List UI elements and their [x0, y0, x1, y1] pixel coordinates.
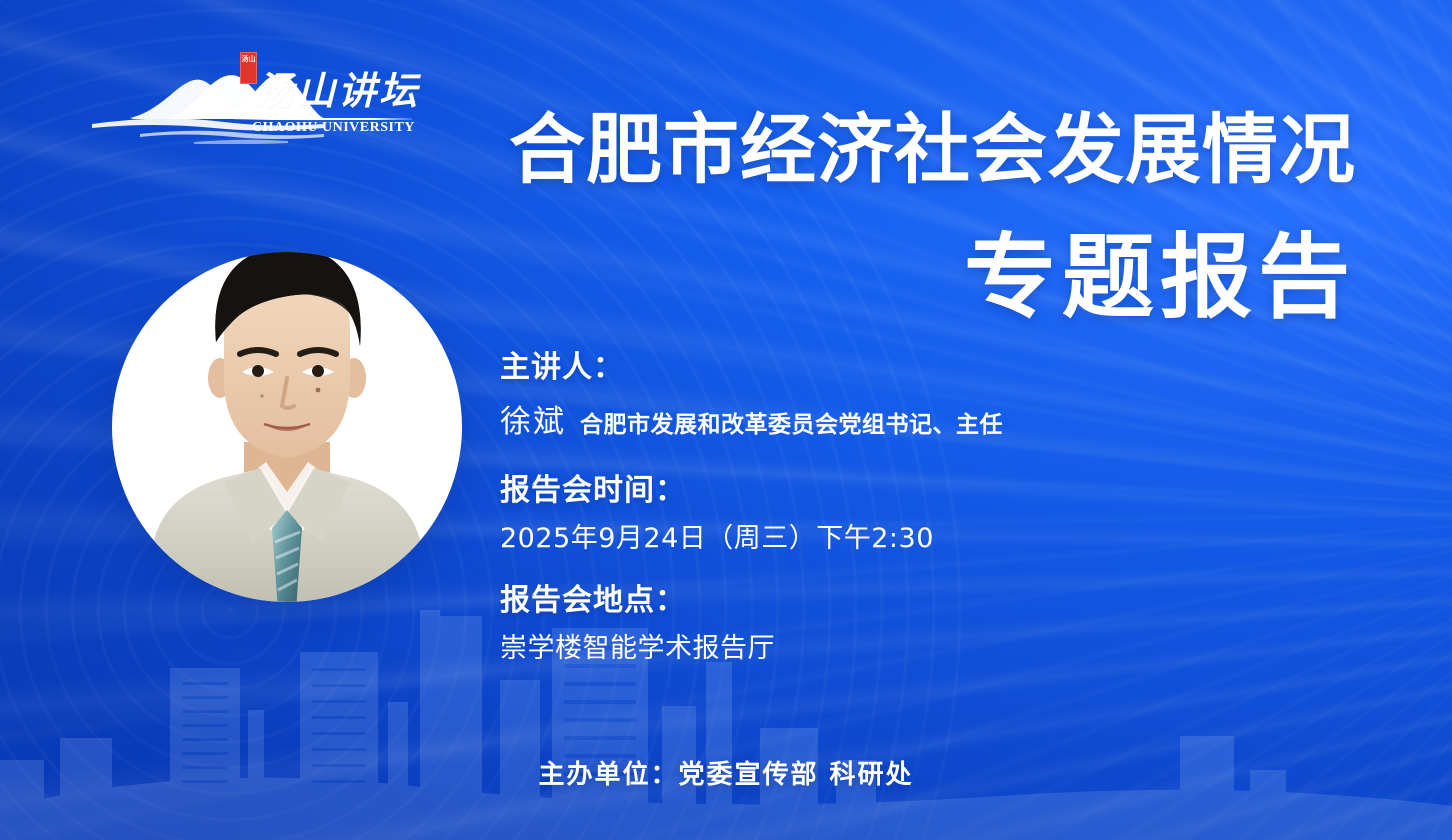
- poster-title: 合肥市经济社会发展情况 专题报告: [509, 106, 1356, 332]
- person-photo-icon: [112, 252, 462, 602]
- portrait-disc: [112, 252, 462, 602]
- place-label: 报告会地点：: [500, 581, 1260, 621]
- speaker-title: 合肥市发展和改革委员会党组书记、主任: [580, 405, 1003, 445]
- title-line-2: 专题报告: [509, 224, 1356, 332]
- red-seal-icon: 汤山: [240, 52, 257, 84]
- poster-root: 汤山 汤山讲坛 CHAOHU UNIVERSITY 合肥市经济社会发展情况 专题…: [0, 0, 1452, 840]
- organizer-text: 主办单位：党委宣传部 科研处: [538, 754, 913, 791]
- poster-footer: 主办单位：党委宣传部 科研处: [0, 754, 1452, 791]
- logo-english-name: CHAOHU UNIVERSITY: [252, 120, 415, 136]
- time-value: 2025年9月24日（周三）下午2:30: [500, 519, 1260, 559]
- speaker-name: 徐斌: [500, 402, 566, 442]
- speaker-row: 徐斌 合肥市发展和改革委员会党组书记、主任: [500, 402, 1260, 445]
- title-line-1: 合肥市经济社会发展情况: [509, 106, 1356, 194]
- speaker-portrait: [112, 252, 462, 602]
- place-value: 崇学楼智能学术报告厅: [500, 629, 1260, 669]
- event-info: 主讲人： 徐斌 合肥市发展和改革委员会党组书记、主任 报告会时间： 2025年9…: [500, 348, 1260, 669]
- seal-text: 汤山: [240, 52, 257, 63]
- time-label: 报告会时间：: [500, 471, 1260, 511]
- logo-chinese-name: 汤山讲坛: [256, 70, 420, 112]
- brand-logo: 汤山 汤山讲坛 CHAOHU UNIVERSITY: [74, 52, 414, 147]
- speaker-label: 主讲人：: [500, 348, 1260, 388]
